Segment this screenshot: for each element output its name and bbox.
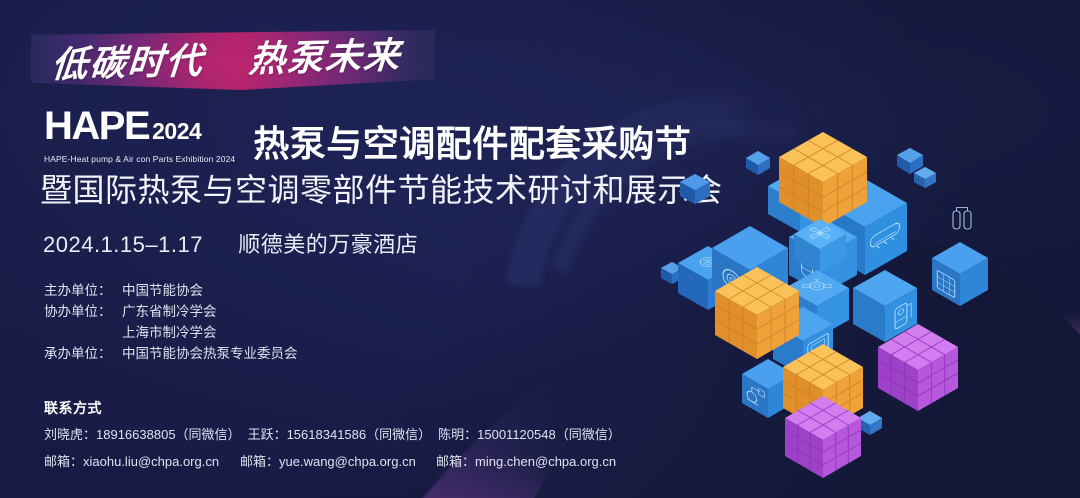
email-label: 邮箱： [240,454,279,469]
contact-phone-line: 刘晓虎：18916638805（同微信）王跃：15618341586（同微信）陈… [44,425,621,445]
contact-name: 刘晓虎： [44,427,96,442]
event-date: 2024.1.15–1.17 [43,232,203,257]
title-logo-row: HAPE 2024 HAPE-Heat pump & Air con Parts… [44,106,691,164]
email-address[interactable]: xiaohu.liu@chpa.org.cn [83,454,219,469]
organizer-label: 承办单位： [44,343,122,364]
contact-name: 王跃： [248,427,287,442]
contact-phone[interactable]: 18916638805 [96,427,176,442]
contact-email-item: 邮箱：yue.wang@chpa.org.cn [240,452,436,472]
hape-year: 2024 [152,111,201,151]
organizer-value: 中国节能协会 [122,280,203,301]
contact-phone[interactable]: 15001120548 [477,427,556,442]
organizer-label: 协办单位： [44,301,122,322]
calligraphy-right: 热泵未来 [248,34,404,80]
contact-name: 陈明： [438,427,477,442]
hape-subtitle: HAPE-Heat pump & Air con Parts Exhibitio… [44,154,235,164]
hape-wordmark: HAPE [44,106,149,146]
email-label: 邮箱： [44,454,83,469]
organizer-row: 上海市制冷学会 [44,322,298,343]
contact-email-item: 邮箱：xiaohu.liu@chpa.org.cn [44,452,240,472]
contact-email-item: 邮箱：ming.chen@chpa.org.cn [436,452,616,472]
isometric-cube-cluster [660,120,1060,480]
event-venue: 顺德美的万豪酒店 [238,232,418,257]
headline-line-2: 暨国际热泵与空调零部件节能技术研讨和展示会 [40,170,723,210]
floating-cube-small [914,167,936,188]
hape-logo: HAPE 2024 HAPE-Heat pump & Air con Parts… [44,106,245,164]
organizer-row: 协办单位： 广东省制冷学会 [44,301,298,322]
organizer-value: 广东省制冷学会 [122,301,217,322]
email-label: 邮箱： [436,454,475,469]
contact-wechat-note: （同微信） [176,427,241,442]
event-date-venue: 2024.1.15–1.17 顺德美的万豪酒店 [43,230,418,260]
email-address[interactable]: ming.chen@chpa.org.cn [475,454,616,469]
calligraphy-left: 低碳时代 [50,40,206,86]
floating-cube-small [858,411,882,435]
contact-email-line: 邮箱：xiaohu.liu@chpa.org.cn 邮箱：yue.wang@ch… [44,452,616,472]
contact-wechat-note: （同微信） [366,427,431,442]
organizer-row: 承办单位： 中国节能协会热泵专业委员会 [44,343,298,364]
email-address[interactable]: yue.wang@chpa.org.cn [279,454,416,469]
cube-with-icon [932,207,988,306]
floating-cube-small [746,151,770,175]
floating-cube-small [680,174,710,204]
organizer-value: 中国节能协会热泵专业委员会 [122,343,298,364]
contact-phone[interactable]: 15618341586 [287,427,367,442]
calligraphy-slogan: 低碳时代 热泵未来 [50,29,423,91]
contact-wechat-note: （同微信） [556,427,621,442]
contact-heading: 联系方式 [44,398,102,418]
organizer-value: 上海市制冷学会 [122,322,217,343]
floating-cube-small [897,148,923,174]
organizer-label: 主办单位： [44,280,122,301]
headline-line-1: 热泵与空调配件配套采购节 [253,124,691,164]
organizer-row: 主办单位： 中国节能协会 [44,280,298,301]
poster-canvas: 低碳时代 热泵未来 HAPE 2024 HAPE-Heat pump & Air… [0,0,1080,498]
organizer-block: 主办单位： 中国节能协会 协办单位： 广东省制冷学会 上海市制冷学会 承办单位：… [44,280,298,364]
